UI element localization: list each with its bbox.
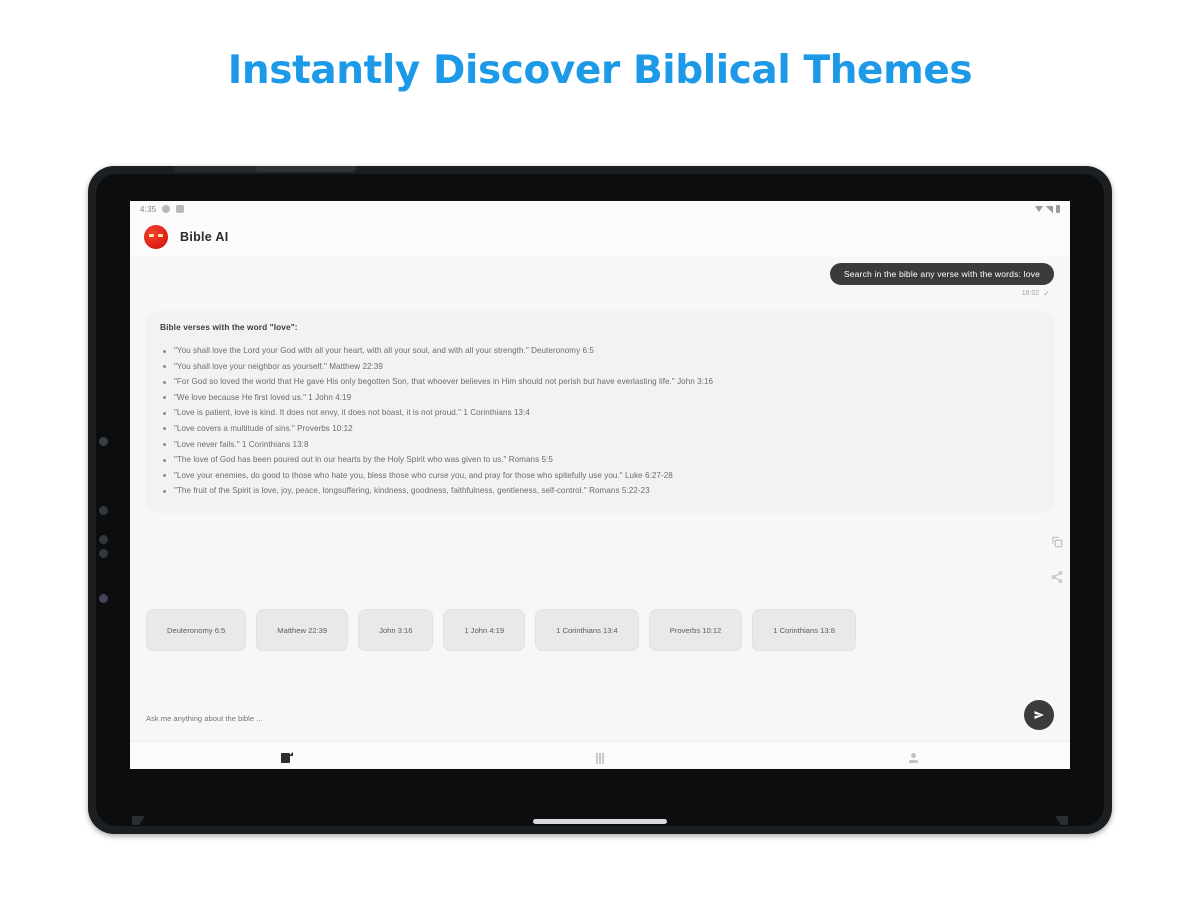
bottom-navigation: chat AI Assistants Account [130,741,1070,769]
tablet-device-frame: 4:35 Bible AI Search in the bible any ve… [88,166,1112,834]
verse-item: "Love is patient, love is kind. It does … [160,405,1040,421]
nav-item-chat[interactable]: chat [130,742,443,769]
promo-headline: Instantly Discover Biblical Themes [0,48,1200,93]
verse-item: "For God so loved the world that He gave… [160,374,1040,390]
suggestion-chips-row[interactable]: Deuteronomy 6:5Matthew 22:39John 3:161 J… [146,609,1070,651]
send-button[interactable] [1024,700,1054,730]
home-indicator[interactable] [533,819,667,824]
message-sent-check-icon: ✓ [1043,289,1050,298]
user-message-row: Search in the bible any verse with the w… [146,263,1054,285]
suggestion-chip[interactable]: Proverbs 10:12 [649,609,743,651]
assistant-message-bubble: Bible verses with the word "love": "You … [146,311,1054,513]
copy-icon[interactable] [1050,535,1064,554]
app-title: Bible AI [180,230,228,244]
account-icon [909,751,918,765]
suggestion-chip[interactable]: 1 John 4:19 [443,609,525,651]
suggestion-chip[interactable]: Deuteronomy 6:5 [146,609,246,651]
speaker-slot-secondary [256,166,356,172]
status-bar-left: 4:35 [140,205,184,214]
user-message-bubble: Search in the bible any verse with the w… [830,263,1054,285]
message-input[interactable] [146,705,1054,731]
verse-item: "The love of God has been poured out in … [160,452,1040,468]
chat-area: Search in the bible any verse with the w… [130,257,1070,695]
assistants-icon [596,751,605,765]
composer-bar [130,695,1070,741]
side-button-dot-1[interactable] [99,506,108,515]
suggestion-chip[interactable]: 1 Corinthians 13:4 [535,609,639,651]
app-bar: Bible AI [130,217,1070,257]
status-bar: 4:35 [130,201,1070,217]
message-actions [1050,535,1064,589]
notification-icon [162,205,170,213]
side-button-dot-3[interactable] [99,549,108,558]
chat-icon [281,751,293,765]
side-button-dot-4[interactable] [99,594,108,603]
suggestion-chip[interactable]: John 3:16 [358,609,433,651]
status-bar-right [1035,205,1060,213]
verse-item: "You shall love your neighbor as yoursel… [160,359,1040,375]
share-icon[interactable] [1050,570,1064,589]
side-button-dot-2[interactable] [99,535,108,544]
side-camera-dot [99,437,108,446]
assistant-answer-title: Bible verses with the word "love": [160,322,1040,332]
suggestion-chip[interactable]: 1 Corinthians 13:8 [752,609,856,651]
nav-item-account[interactable]: Account [757,742,1070,769]
wifi-icon [1035,206,1043,212]
verse-item: "You shall love the Lord your God with a… [160,343,1040,359]
verse-list: "You shall love the Lord your God with a… [160,343,1040,499]
app-icon [176,205,184,213]
suggestion-chip[interactable]: Matthew 22:39 [256,609,348,651]
bible-ai-logo-icon [144,225,168,249]
verse-item: "Love your enemies, do good to those who… [160,468,1040,484]
tablet-screen: 4:35 Bible AI Search in the bible any ve… [130,201,1070,769]
user-message-time: 16:02 [1022,290,1040,297]
signal-icon [1046,206,1053,213]
verse-item: "We love because He first loved us." 1 J… [160,390,1040,406]
user-message-meta: 16:02 ✓ [146,289,1054,298]
battery-icon [1056,205,1060,213]
verse-item: "Love covers a multitude of sins." Prove… [160,421,1040,437]
status-bar-clock: 4:35 [140,205,156,214]
nav-item-ai-assistants[interactable]: AI Assistants [443,742,756,769]
verse-item: "The fruit of the Spirit is love, joy, p… [160,483,1040,499]
verse-item: "Love never fails." 1 Corinthians 13:8 [160,437,1040,453]
